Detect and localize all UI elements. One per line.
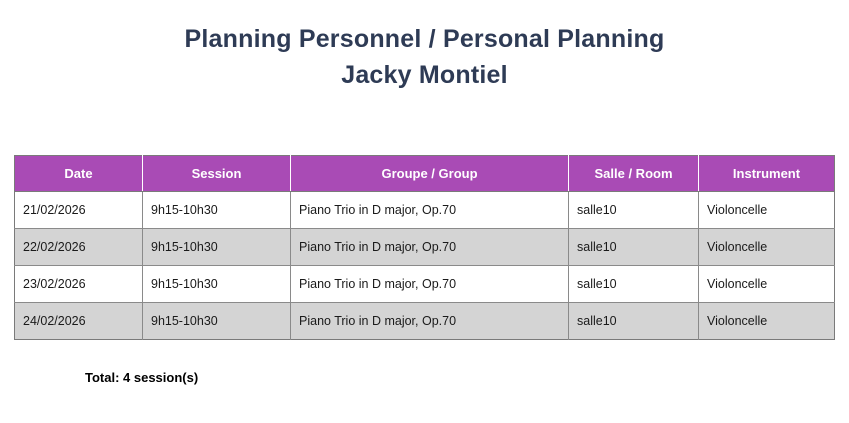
table-header-row: Date Session Groupe / Group Salle / Room… — [15, 156, 835, 192]
table-row: 24/02/2026 9h15-10h30 Piano Trio in D ma… — [15, 303, 835, 340]
cell-room: salle10 — [569, 229, 699, 266]
table-header: Date Session Groupe / Group Salle / Room… — [15, 156, 835, 192]
page-title-line-1: Planning Personnel / Personal Planning — [0, 22, 849, 58]
table-row: 22/02/2026 9h15-10h30 Piano Trio in D ma… — [15, 229, 835, 266]
cell-group: Piano Trio in D major, Op.70 — [291, 229, 569, 266]
page-title: Planning Personnel / Personal Planning J… — [0, 0, 849, 93]
schedule-table-container: Date Session Groupe / Group Salle / Room… — [14, 93, 835, 340]
cell-instrument: Violoncelle — [699, 303, 835, 340]
cell-group: Piano Trio in D major, Op.70 — [291, 192, 569, 229]
total-sessions-label: Total: 4 session(s) — [85, 370, 849, 385]
column-header-session: Session — [143, 156, 291, 192]
cell-date: 23/02/2026 — [15, 266, 143, 303]
table-row: 23/02/2026 9h15-10h30 Piano Trio in D ma… — [15, 266, 835, 303]
cell-group: Piano Trio in D major, Op.70 — [291, 266, 569, 303]
cell-instrument: Violoncelle — [699, 266, 835, 303]
cell-date: 24/02/2026 — [15, 303, 143, 340]
cell-session: 9h15-10h30 — [143, 229, 291, 266]
column-header-instrument: Instrument — [699, 156, 835, 192]
cell-room: salle10 — [569, 303, 699, 340]
cell-session: 9h15-10h30 — [143, 303, 291, 340]
cell-date: 22/02/2026 — [15, 229, 143, 266]
cell-room: salle10 — [569, 192, 699, 229]
cell-session: 9h15-10h30 — [143, 266, 291, 303]
cell-instrument: Violoncelle — [699, 192, 835, 229]
cell-date: 21/02/2026 — [15, 192, 143, 229]
cell-room: salle10 — [569, 266, 699, 303]
column-header-group: Groupe / Group — [291, 156, 569, 192]
cell-group: Piano Trio in D major, Op.70 — [291, 303, 569, 340]
cell-session: 9h15-10h30 — [143, 192, 291, 229]
page-title-line-2: Jacky Montiel — [0, 58, 849, 94]
column-header-date: Date — [15, 156, 143, 192]
cell-instrument: Violoncelle — [699, 229, 835, 266]
table-body: 21/02/2026 9h15-10h30 Piano Trio in D ma… — [15, 192, 835, 340]
planning-page: Planning Personnel / Personal Planning J… — [0, 0, 849, 423]
schedule-table: Date Session Groupe / Group Salle / Room… — [14, 155, 835, 340]
column-header-room: Salle / Room — [569, 156, 699, 192]
table-row: 21/02/2026 9h15-10h30 Piano Trio in D ma… — [15, 192, 835, 229]
